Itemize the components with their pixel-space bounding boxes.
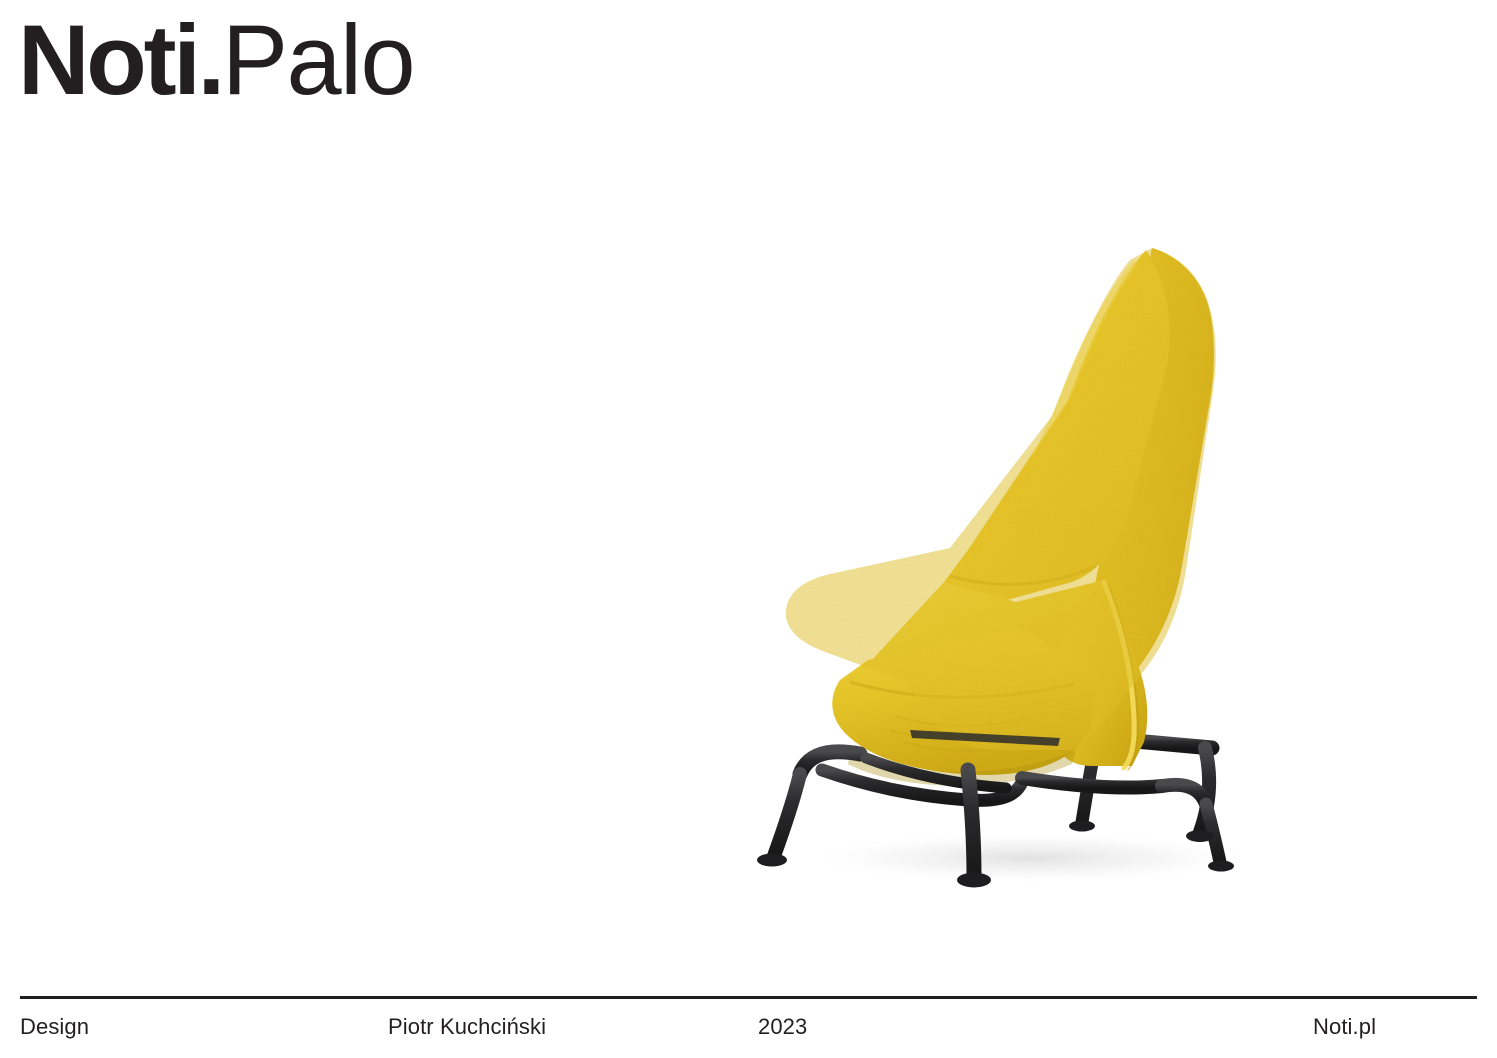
footer-divider	[20, 996, 1477, 999]
logo-brand-text: Noti.	[18, 4, 222, 115]
armchair-illustration	[700, 230, 1380, 910]
footer-year: 2023	[758, 1012, 807, 1042]
logo-product-text: Palo	[222, 10, 414, 109]
footer-designer-name: Piotr Kuchciński	[388, 1012, 546, 1042]
footer-website[interactable]: Noti.pl	[1313, 1012, 1376, 1042]
catalogue-page: Noti.Palo	[0, 0, 1497, 1058]
footer: Design Piotr Kuchciński 2023 Noti.pl	[20, 1012, 1477, 1046]
chair-upholstery	[760, 230, 1240, 790]
brand-logo: Noti.Palo	[18, 10, 414, 109]
footer-design-label: Design	[20, 1012, 89, 1042]
product-image	[700, 230, 1380, 910]
